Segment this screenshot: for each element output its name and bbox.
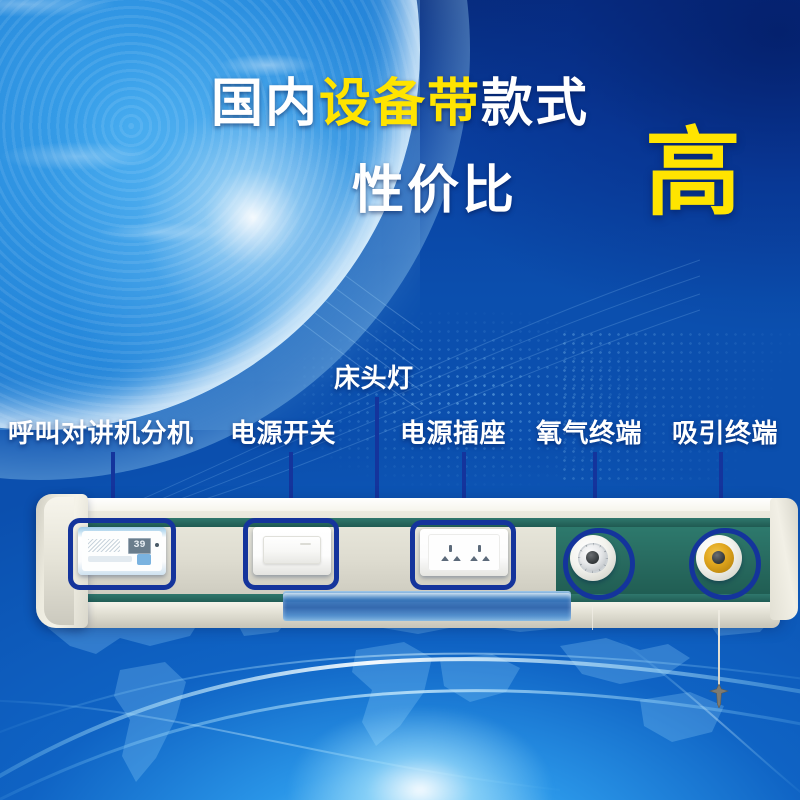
highlight-box-intercom (68, 518, 176, 590)
highlight-circle-oxygen (563, 528, 635, 600)
headline-part-1: 国内 (211, 75, 319, 133)
callout-label-power-switch: 电源开关 (230, 413, 336, 450)
panel-top-highlight (64, 498, 780, 511)
highlight-box-power-socket (410, 520, 516, 590)
panel-end-cap-right (770, 498, 798, 620)
highlight-circle-suction (689, 528, 761, 600)
bed-lamp-diffuser-gloss (283, 593, 571, 600)
callout-label-intercom: 呼叫对讲机分机 (8, 413, 194, 450)
horizon-glow (230, 660, 610, 800)
callout-label-suction: 吸引终端 (672, 413, 778, 450)
callout-label-bed-lamp: 床头灯 (334, 358, 414, 395)
callout-label-oxygen: 氧气终端 (536, 413, 642, 450)
headline-part-2-highlight: 设备带 (319, 75, 481, 133)
headline-block: 国内设备带款式 性价比 高 (0, 78, 800, 130)
headline-line-2: 性价比 (352, 148, 517, 223)
promotional-banner: 国内设备带款式 性价比 高 呼叫对讲机分机 电源开关 床头灯 电源插座 氧气终端… (0, 0, 800, 800)
headline-part-3: 款式 (481, 75, 589, 133)
callout-label-power-socket: 电源插座 (400, 413, 506, 450)
headline-emphasis-gao: 高 (645, 126, 741, 222)
pull-cord-secondary (592, 604, 593, 630)
cord-pull-icon[interactable] (708, 684, 730, 708)
highlight-box-power-switch (243, 518, 339, 590)
pull-cord[interactable] (718, 610, 720, 690)
